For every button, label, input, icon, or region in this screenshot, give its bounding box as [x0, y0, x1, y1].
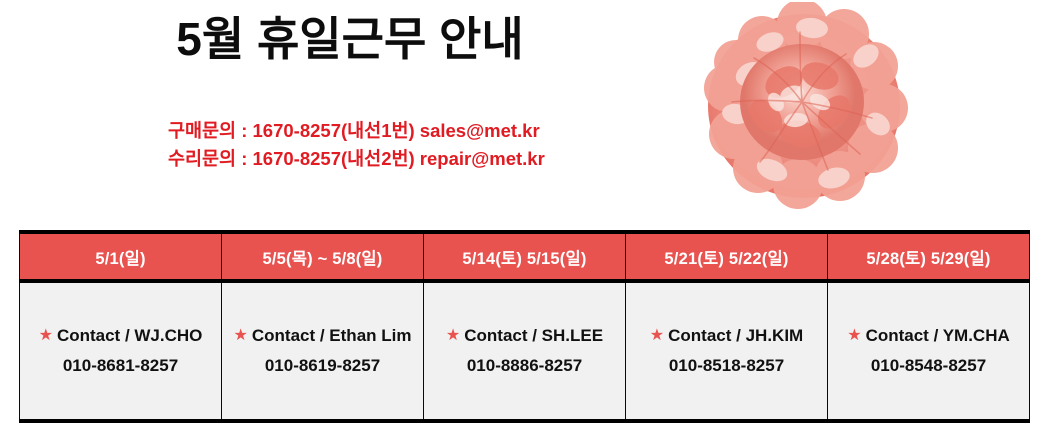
date-header-cell-2: 5/5(목) ~ 5/8(일): [222, 232, 424, 281]
contact-cell-4: ★Contact / JH.KIM 010-8518-8257: [626, 281, 828, 421]
contact-phone-3[interactable]: 010-8886-8257: [424, 353, 625, 379]
contact-cell-2: ★Contact / Ethan Lim 010-8619-8257: [222, 281, 424, 421]
purchase-inquiry-line: 구매문의 : 1670-8257(내선1번) sales@met.kr: [168, 117, 545, 145]
contact-name-label-3: Contact / SH.LEE: [464, 326, 603, 345]
table-header-row: 5/1(일) 5/5(목) ~ 5/8(일) 5/14(토) 5/15(일) 5…: [20, 232, 1030, 281]
contact-info-5: ★Contact / YM.CHA 010-8548-8257: [828, 323, 1029, 379]
contact-phone-1[interactable]: 010-8681-8257: [20, 353, 221, 379]
page-title: 5월 휴일근무 안내: [0, 14, 700, 65]
contact-name-label-5: Contact / YM.CHA: [866, 326, 1010, 345]
holiday-duty-table: 5/1(일) 5/5(목) ~ 5/8(일) 5/14(토) 5/15(일) 5…: [19, 230, 1030, 423]
contact-phone-5[interactable]: 010-8548-8257: [828, 353, 1029, 379]
contact-cell-5: ★Contact / YM.CHA 010-8548-8257: [828, 281, 1030, 421]
date-header-cell-1: 5/1(일): [20, 232, 222, 281]
table-row: ★Contact / WJ.CHO 010-8681-8257 ★Contact…: [20, 281, 1030, 421]
contact-info-2: ★Contact / Ethan Lim 010-8619-8257: [222, 323, 423, 379]
star-icon: ★: [39, 327, 53, 344]
contact-phone-2[interactable]: 010-8619-8257: [222, 353, 423, 379]
star-icon: ★: [234, 327, 248, 344]
contact-name-label-1: Contact / WJ.CHO: [57, 326, 202, 345]
star-icon: ★: [446, 327, 460, 344]
contact-name-label-2: Contact / Ethan Lim: [252, 326, 412, 345]
contact-name-row-2: ★Contact / Ethan Lim: [222, 323, 423, 349]
star-icon: ★: [847, 327, 861, 344]
contact-name-label-4: Contact / JH.KIM: [668, 326, 803, 345]
contact-phone-4[interactable]: 010-8518-8257: [626, 353, 827, 379]
contact-info-3: ★Contact / SH.LEE 010-8886-8257: [424, 323, 625, 379]
contact-name-row-1: ★Contact / WJ.CHO: [20, 323, 221, 349]
contact-name-row-3: ★Contact / SH.LEE: [424, 323, 625, 349]
contact-info-4: ★Contact / JH.KIM 010-8518-8257: [626, 323, 827, 379]
contact-cell-3: ★Contact / SH.LEE 010-8886-8257: [424, 281, 626, 421]
table-body: ★Contact / WJ.CHO 010-8681-8257 ★Contact…: [20, 281, 1030, 421]
star-icon: ★: [650, 327, 664, 344]
date-header-cell-4: 5/21(토) 5/22(일): [626, 232, 828, 281]
table-header: 5/1(일) 5/5(목) ~ 5/8(일) 5/14(토) 5/15(일) 5…: [20, 232, 1030, 281]
repair-inquiry-line: 수리문의 : 1670-8257(내선2번) repair@met.kr: [168, 145, 545, 173]
date-header-cell-3: 5/14(토) 5/15(일): [424, 232, 626, 281]
contact-cell-1: ★Contact / WJ.CHO 010-8681-8257: [20, 281, 222, 421]
carnation-flower-icon: [688, 2, 920, 214]
contact-name-row-4: ★Contact / JH.KIM: [626, 323, 827, 349]
date-header-cell-5: 5/28(토) 5/29(일): [828, 232, 1030, 281]
header-contact-block: 구매문의 : 1670-8257(내선1번) sales@met.kr 수리문의…: [168, 117, 545, 173]
contact-info-1: ★Contact / WJ.CHO 010-8681-8257: [20, 323, 221, 379]
contact-name-row-5: ★Contact / YM.CHA: [828, 323, 1029, 349]
holiday-duty-poster: 5월 휴일근무 안내 구매문의 : 1670-8257(내선1번) sales@…: [0, 0, 1043, 436]
